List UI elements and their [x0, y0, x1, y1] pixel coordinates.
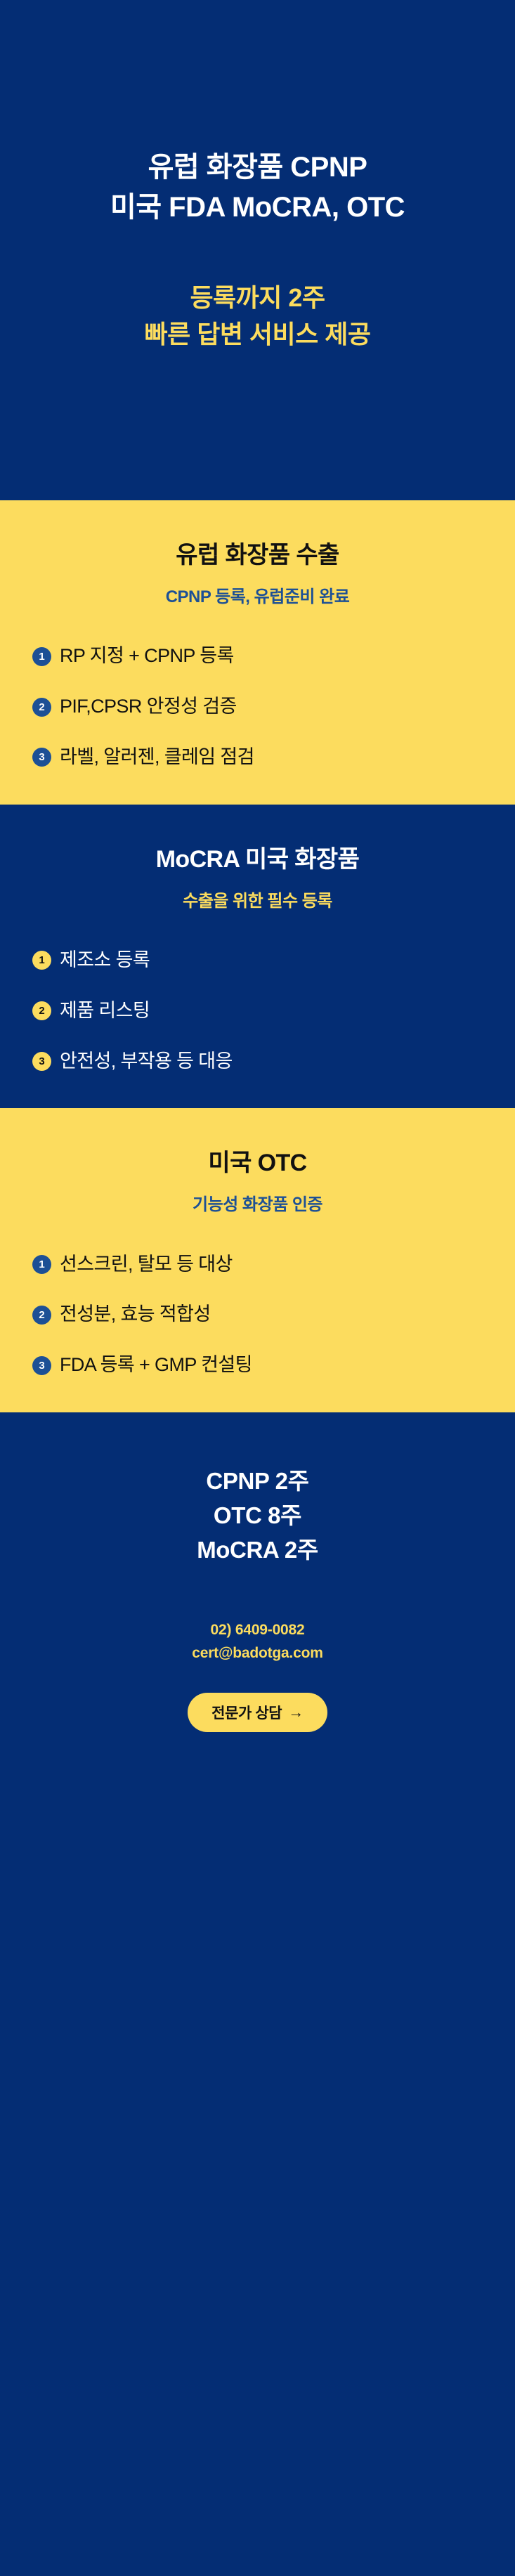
- timeline-cpnp: CPNP 2주: [206, 1464, 308, 1499]
- section-cpnp: 유럽 화장품 수출 CPNP 등록, 유럽준비 완료 1 RP 지정 + CPN…: [0, 500, 515, 805]
- list-item-label: PIF,CPSR 안정성 검증: [60, 695, 237, 719]
- contact-block: 02) 6409-0082 cert@badotga.com: [192, 1619, 322, 1665]
- list-item-label: 안전성, 부작용 등 대응: [60, 1050, 233, 1074]
- hero-subtitle-line-1: 등록까지 2주: [190, 280, 325, 316]
- timeline-mocra: MoCRA 2주: [197, 1533, 318, 1568]
- number-badge-icon: 2: [32, 1001, 51, 1020]
- hero-section: 유럽 화장품 CPNP 미국 FDA MoCRA, OTC 등록까지 2주 빠른…: [0, 0, 515, 500]
- section-mocra-list: 1 제조소 등록 2 제품 리스팅 3 안전성, 부작용 등 대응: [0, 949, 515, 1073]
- promo-banner: 유럽 화장품 CPNP 미국 FDA MoCRA, OTC 등록까지 2주 빠른…: [0, 0, 515, 2576]
- number-badge-icon: 3: [32, 1052, 51, 1071]
- list-item-label: 제조소 등록: [60, 949, 150, 972]
- list-item[interactable]: 3 안전성, 부작용 등 대응: [32, 1050, 233, 1074]
- number-badge-icon: 1: [32, 1255, 51, 1274]
- contact-email[interactable]: cert@badotga.com: [192, 1642, 322, 1665]
- hero-subtitle-line-2: 빠른 답변 서비스 제공: [144, 316, 370, 353]
- list-item-label: FDA 등록 + GMP 컨설팅: [60, 1353, 252, 1377]
- section-cpnp-subtitle: CPNP 등록, 유럽준비 완료: [166, 586, 350, 608]
- list-item[interactable]: 3 FDA 등록 + GMP 컨설팅: [32, 1353, 252, 1377]
- contact-phone[interactable]: 02) 6409-0082: [192, 1619, 322, 1642]
- section-cpnp-title: 유럽 화장품 수출: [176, 540, 339, 571]
- section-mocra-subtitle: 수출을 위한 필수 등록: [183, 890, 332, 912]
- number-badge-icon: 2: [32, 1306, 51, 1325]
- section-cpnp-list: 1 RP 지정 + CPNP 등록 2 PIF,CPSR 안정성 검증 3 라벨…: [0, 644, 515, 769]
- section-otc-title: 미국 OTC: [208, 1147, 306, 1178]
- section-mocra-title: MoCRA 미국 화장품: [156, 844, 360, 875]
- list-item[interactable]: 2 제품 리스팅: [32, 999, 150, 1023]
- number-badge-icon: 1: [32, 647, 51, 666]
- hero-title-line-2: 미국 FDA MoCRA, OTC: [110, 188, 405, 228]
- list-item-label: 전성분, 효능 적합성: [60, 1303, 211, 1327]
- list-item-label: 라벨, 알러젠, 클레임 점검: [60, 746, 254, 769]
- section-otc-list: 1 선스크린, 탈모 등 대상 2 전성분, 효능 적합성 3 FDA 등록 +…: [0, 1253, 515, 1377]
- list-item-label: 선스크린, 탈모 등 대상: [60, 1253, 233, 1277]
- list-item[interactable]: 1 선스크린, 탈모 등 대상: [32, 1253, 233, 1277]
- list-item[interactable]: 1 RP 지정 + CPNP 등록: [32, 644, 234, 668]
- list-item[interactable]: 2 PIF,CPSR 안정성 검증: [32, 695, 237, 719]
- number-badge-icon: 3: [32, 748, 51, 767]
- number-badge-icon: 2: [32, 698, 51, 717]
- number-badge-icon: 1: [32, 951, 51, 970]
- section-otc: 미국 OTC 기능성 화장품 인증 1 선스크린, 탈모 등 대상 2 전성분,…: [0, 1108, 515, 1412]
- number-badge-icon: 3: [32, 1356, 51, 1375]
- cta-label: 전문가 상담: [211, 1702, 282, 1723]
- list-item[interactable]: 1 제조소 등록: [32, 949, 150, 972]
- list-item-label: 제품 리스팅: [60, 999, 150, 1023]
- hero-title-line-1: 유럽 화장품 CPNP: [148, 148, 367, 188]
- list-item[interactable]: 3 라벨, 알러젠, 클레임 점검: [32, 746, 254, 769]
- footer-section: CPNP 2주 OTC 8주 MoCRA 2주 02) 6409-0082 ce…: [0, 1412, 515, 1733]
- list-item[interactable]: 2 전성분, 효능 적합성: [32, 1303, 211, 1327]
- section-otc-subtitle: 기능성 화장품 인증: [193, 1194, 322, 1216]
- arrow-right-icon: →: [288, 1705, 304, 1720]
- expert-consultation-button[interactable]: 전문가 상담 →: [188, 1693, 327, 1732]
- timeline-otc: OTC 8주: [214, 1499, 301, 1533]
- list-item-label: RP 지정 + CPNP 등록: [60, 644, 234, 668]
- section-mocra: MoCRA 미국 화장품 수출을 위한 필수 등록 1 제조소 등록 2 제품 …: [0, 805, 515, 1109]
